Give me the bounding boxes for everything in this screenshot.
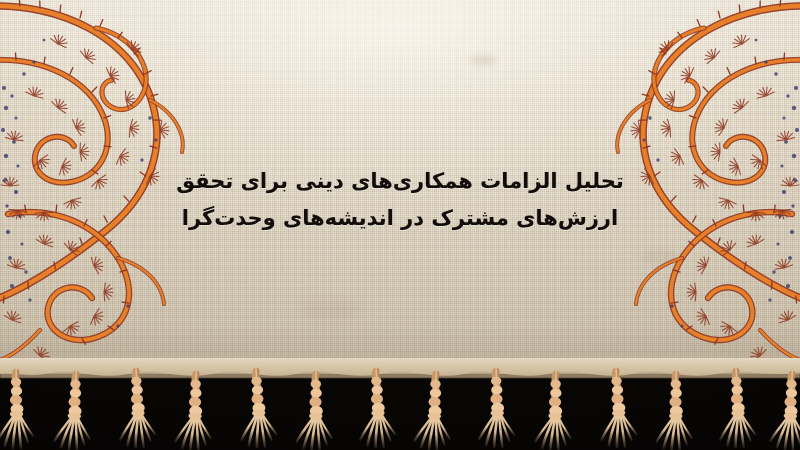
tassel-row — [0, 370, 800, 450]
title-line-1: تحلیل الزامات همکاری‌های دینی برای تحقق — [0, 163, 800, 200]
banner-title: تحلیل الزامات همکاری‌های دینی برای تحقق … — [0, 163, 800, 237]
banner-poster: تحلیل الزامات همکاری‌های دینی برای تحقق … — [0, 0, 800, 450]
title-line-2: ارزش‌های مشترک در اندیشه‌های وحدت‌گرا — [0, 200, 800, 237]
cloth-bottom-edge — [0, 358, 800, 376]
tassel-fringe — [0, 358, 800, 450]
